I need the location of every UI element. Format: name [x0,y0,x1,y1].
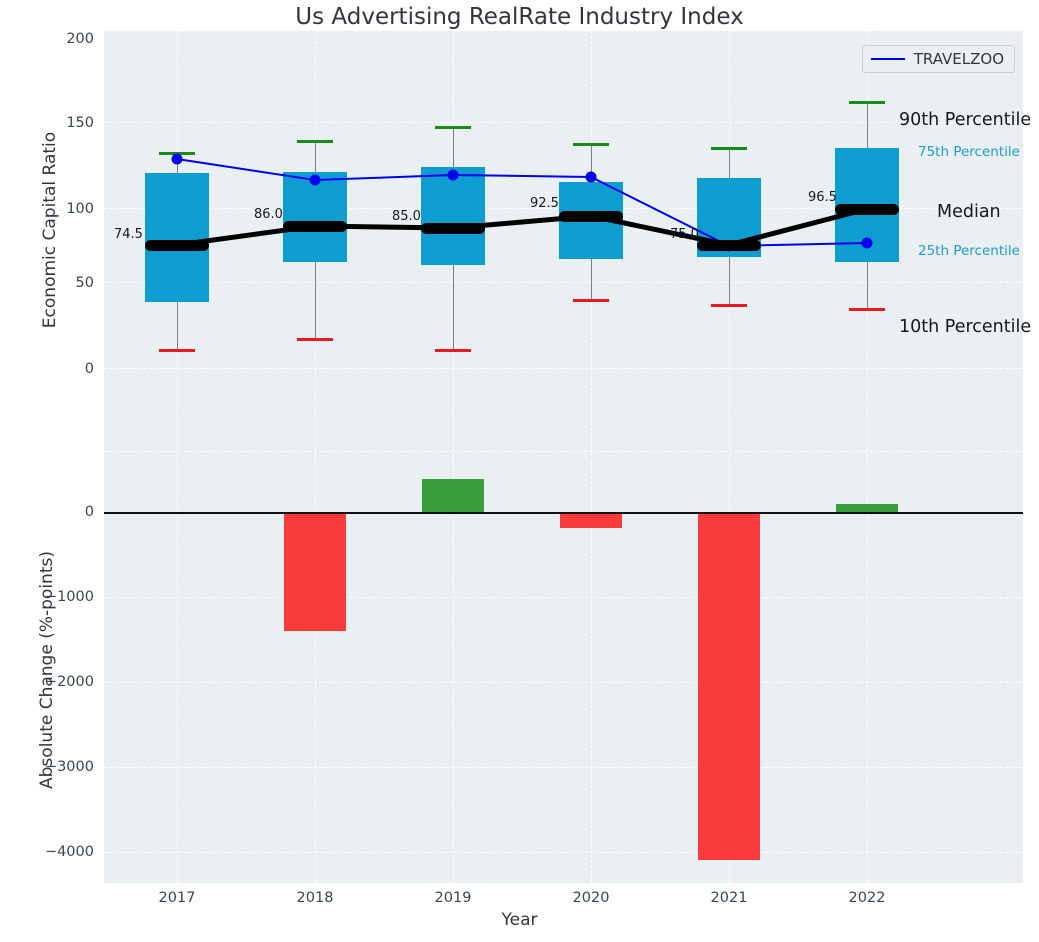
xtick-2022: 2022 [827,890,907,906]
legend-line-swatch-travelzoo [871,58,905,60]
ytick-bottom-minus3000: −3000 [24,759,94,775]
cap-p90-2022 [849,101,885,104]
gridline-minus3000 [104,767,1023,768]
page-title: Us Advertising RealRate Industry Index [0,4,1039,30]
ytick-top-200b: 200 [24,31,94,47]
chart-legend[interactable]: TRAVELZOO [862,45,1015,73]
gridline-x2-2022 [867,461,868,883]
ytick-bottom-minus1000: −1000 [24,589,94,605]
top-panel-plot-area [104,31,1023,461]
bar-2021 [698,512,760,860]
median-bar-2022 [835,204,899,215]
median-label-2018: 86.0 [254,207,283,222]
annotation-25th-percentile: 25th Percentile [918,243,1020,259]
gridline-minus2000 [104,682,1023,683]
median-bar-2017 [145,240,209,251]
gridline-minus1000 [104,597,1023,598]
legend-label-travelzoo: TRAVELZOO [914,50,1004,68]
ytick-bottom-minus4000: −4000 [24,844,94,860]
median-label-2017: 74.5 [114,227,143,242]
gridline-0 [104,368,1023,369]
median-label-2020: 92.5 [530,196,559,211]
cap-p10-2021 [711,304,747,307]
cap-p90-2020 [573,143,609,146]
y-axis-label-bottom: Absolute Change (%-points) [37,505,57,835]
y-axis-label-top: Economic Capital Ratio [40,80,60,380]
median-bar-2019 [421,223,485,234]
box-2018 [283,172,347,262]
gridline-x2-2019 [453,461,454,883]
bottom-panel-plot-area [104,461,1023,883]
cap-p10-2017 [159,349,195,352]
box-2017 [145,173,209,302]
median-label-2019: 85.0 [392,209,421,224]
annotation-90th-percentile: 90th Percentile [899,110,1031,130]
cap-p90-2018 [297,140,333,143]
cap-p90-2019 [435,126,471,129]
xtick-2020: 2020 [551,890,631,906]
cap-p10-2018 [297,338,333,341]
zero-baseline [104,512,1023,514]
cap-p10-2022 [849,308,885,311]
ytick-bottom-0: 0 [24,504,94,520]
annotation-median: Median [937,202,1001,222]
xtick-2021: 2021 [689,890,769,906]
annotation-75th-percentile: 75th Percentile [918,144,1020,160]
bottom-panel-absolute-change [104,461,1023,883]
median-bar-2018 [283,221,347,232]
annotation-10th-percentile: 10th Percentile [899,317,1031,337]
xtick-2018: 2018 [275,890,355,906]
gridline-minus [104,451,1023,452]
cap-p90-2017 [159,152,195,155]
bar-2019 [422,479,484,512]
median-label-2022: 96.5 [808,190,837,205]
ytick-bottom-minus2000: −2000 [24,674,94,690]
box-2019 [421,167,485,265]
median-label-2021: 75.0 [670,227,699,242]
cap-p10-2020 [573,299,609,302]
cap-p10-2019 [435,349,471,352]
bar-2018 [284,512,346,631]
gridline-minus4000 [104,852,1023,853]
x-axis-label: Year [0,910,1039,930]
bar-2022 [836,504,898,512]
gridline-50 [104,282,1023,283]
median-bar-2021 [697,240,761,251]
chart-figure: Us Advertising RealRate Industry Index [0,0,1039,942]
xtick-2017: 2017 [137,890,217,906]
top-panel-economic-capital-ratio: 74.5 86.0 85.0 92.5 75.0 96.5 90th Perce… [104,31,1023,461]
cap-p90-2021 [711,147,747,150]
xtick-2019: 2019 [413,890,493,906]
gridline-x2-2017 [177,461,178,883]
gridline-150 [104,122,1023,123]
median-bar-2020 [559,211,623,222]
bar-2020 [560,512,622,528]
